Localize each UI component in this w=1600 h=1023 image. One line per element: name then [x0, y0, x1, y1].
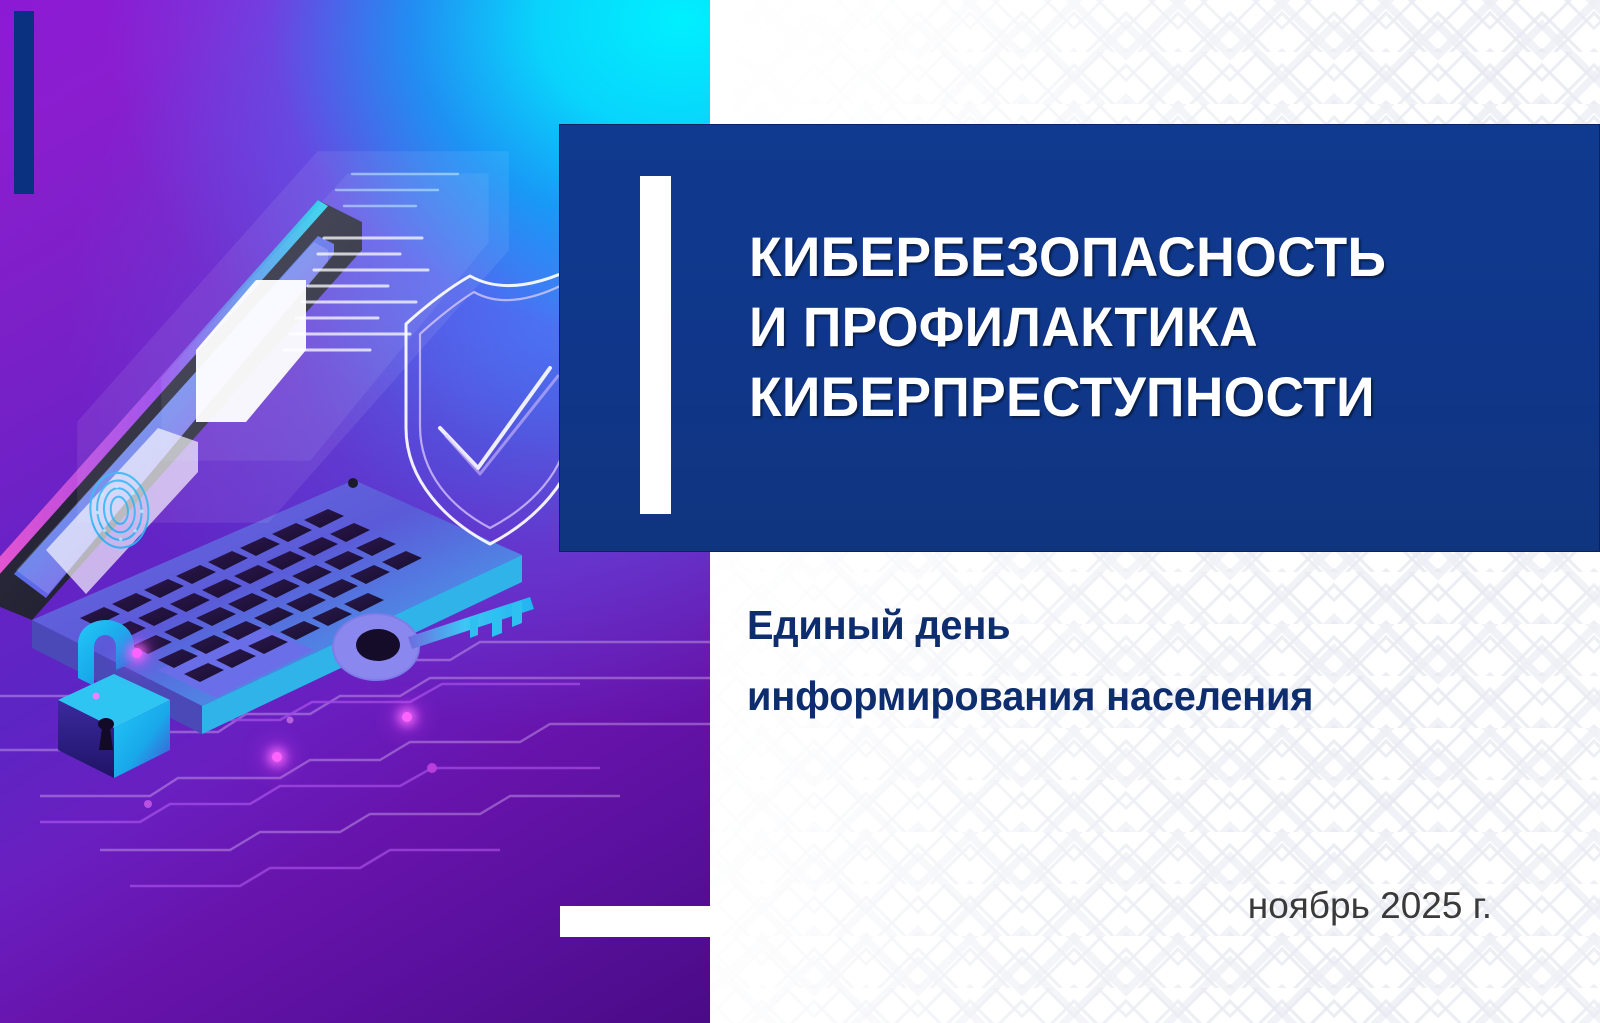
page-title: КИБЕРБЕЗОПАСНОСТЬ И ПРОФИЛАКТИКА КИБЕРПР…	[749, 222, 1579, 432]
title-line-2: И ПРОФИЛАКТИКА	[749, 292, 1542, 362]
sparkle-dot	[272, 752, 282, 762]
page-subtitle: Единый день информирования населения	[747, 590, 1547, 732]
poster-slide: КИБЕРБЕЗОПАСНОСТЬ И ПРОФИЛАКТИКА КИБЕРПР…	[0, 0, 1600, 1023]
bottom-accent-bar	[560, 906, 720, 937]
title-line-1: КИБЕРБЕЗОПАСНОСТЬ	[749, 222, 1542, 292]
title-accent-bar	[640, 176, 671, 514]
subtitle-line-2: информирования населения	[747, 661, 1523, 732]
sparkle-dot	[402, 712, 412, 722]
subtitle-line-1: Единый день	[747, 590, 1523, 661]
date-label: ноябрь 2025 г.	[1040, 884, 1492, 928]
padlock-icon	[38, 600, 188, 790]
key-icon	[320, 585, 550, 715]
title-line-3: КИБЕРПРЕСТУПНОСТИ	[749, 362, 1542, 432]
sparkle-dot	[132, 648, 142, 658]
